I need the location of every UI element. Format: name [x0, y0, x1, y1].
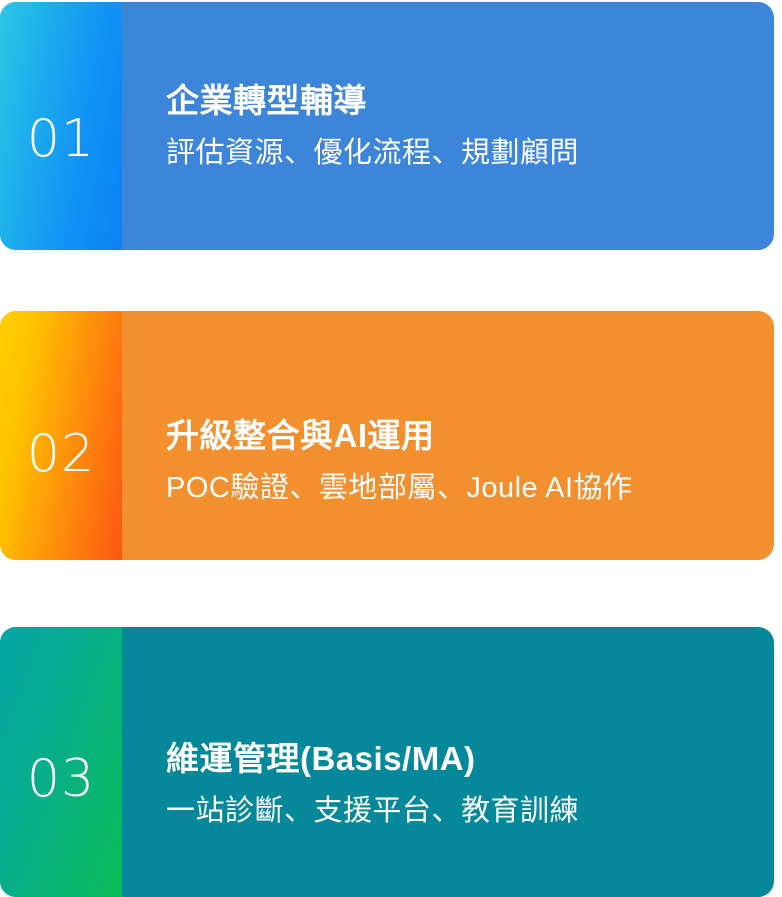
- step-body-03: 維運管理(Basis/MA) 一站診斷、支援平台、教育訓練: [122, 627, 774, 897]
- step-number-02: 02: [27, 428, 95, 480]
- step-title-02: 升級整合與AI運用: [166, 415, 748, 456]
- step-title-03: 維運管理(Basis/MA): [166, 738, 748, 779]
- step-number-01: 01: [27, 113, 95, 165]
- step-index-strip-01: 01: [0, 2, 122, 250]
- step-description-01: 評估資源、優化流程、規劃顧問: [166, 135, 748, 173]
- step-number-03: 03: [27, 753, 95, 805]
- steps-list: 01 企業轉型輔導 評估資源、優化流程、規劃顧問 02 升級整合與AI運用 PO…: [0, 0, 782, 880]
- step-description-03: 一站診斷、支援平台、教育訓練: [166, 793, 748, 831]
- step-card-01[interactable]: 01 企業轉型輔導 評估資源、優化流程、規劃顧問: [0, 2, 774, 250]
- step-card-02[interactable]: 02 升級整合與AI運用 POC驗證、雲地部屬、Joule AI協作: [0, 311, 774, 560]
- step-description-02: POC驗證、雲地部屬、Joule AI協作: [166, 470, 748, 508]
- step-index-strip-02: 02: [0, 311, 122, 560]
- step-card-03[interactable]: 03 維運管理(Basis/MA) 一站診斷、支援平台、教育訓練: [0, 627, 774, 897]
- step-title-01: 企業轉型輔導: [166, 80, 748, 121]
- step-index-strip-03: 03: [0, 627, 122, 897]
- step-body-02: 升級整合與AI運用 POC驗證、雲地部屬、Joule AI協作: [122, 311, 774, 560]
- step-body-01: 企業轉型輔導 評估資源、優化流程、規劃顧問: [122, 2, 774, 250]
